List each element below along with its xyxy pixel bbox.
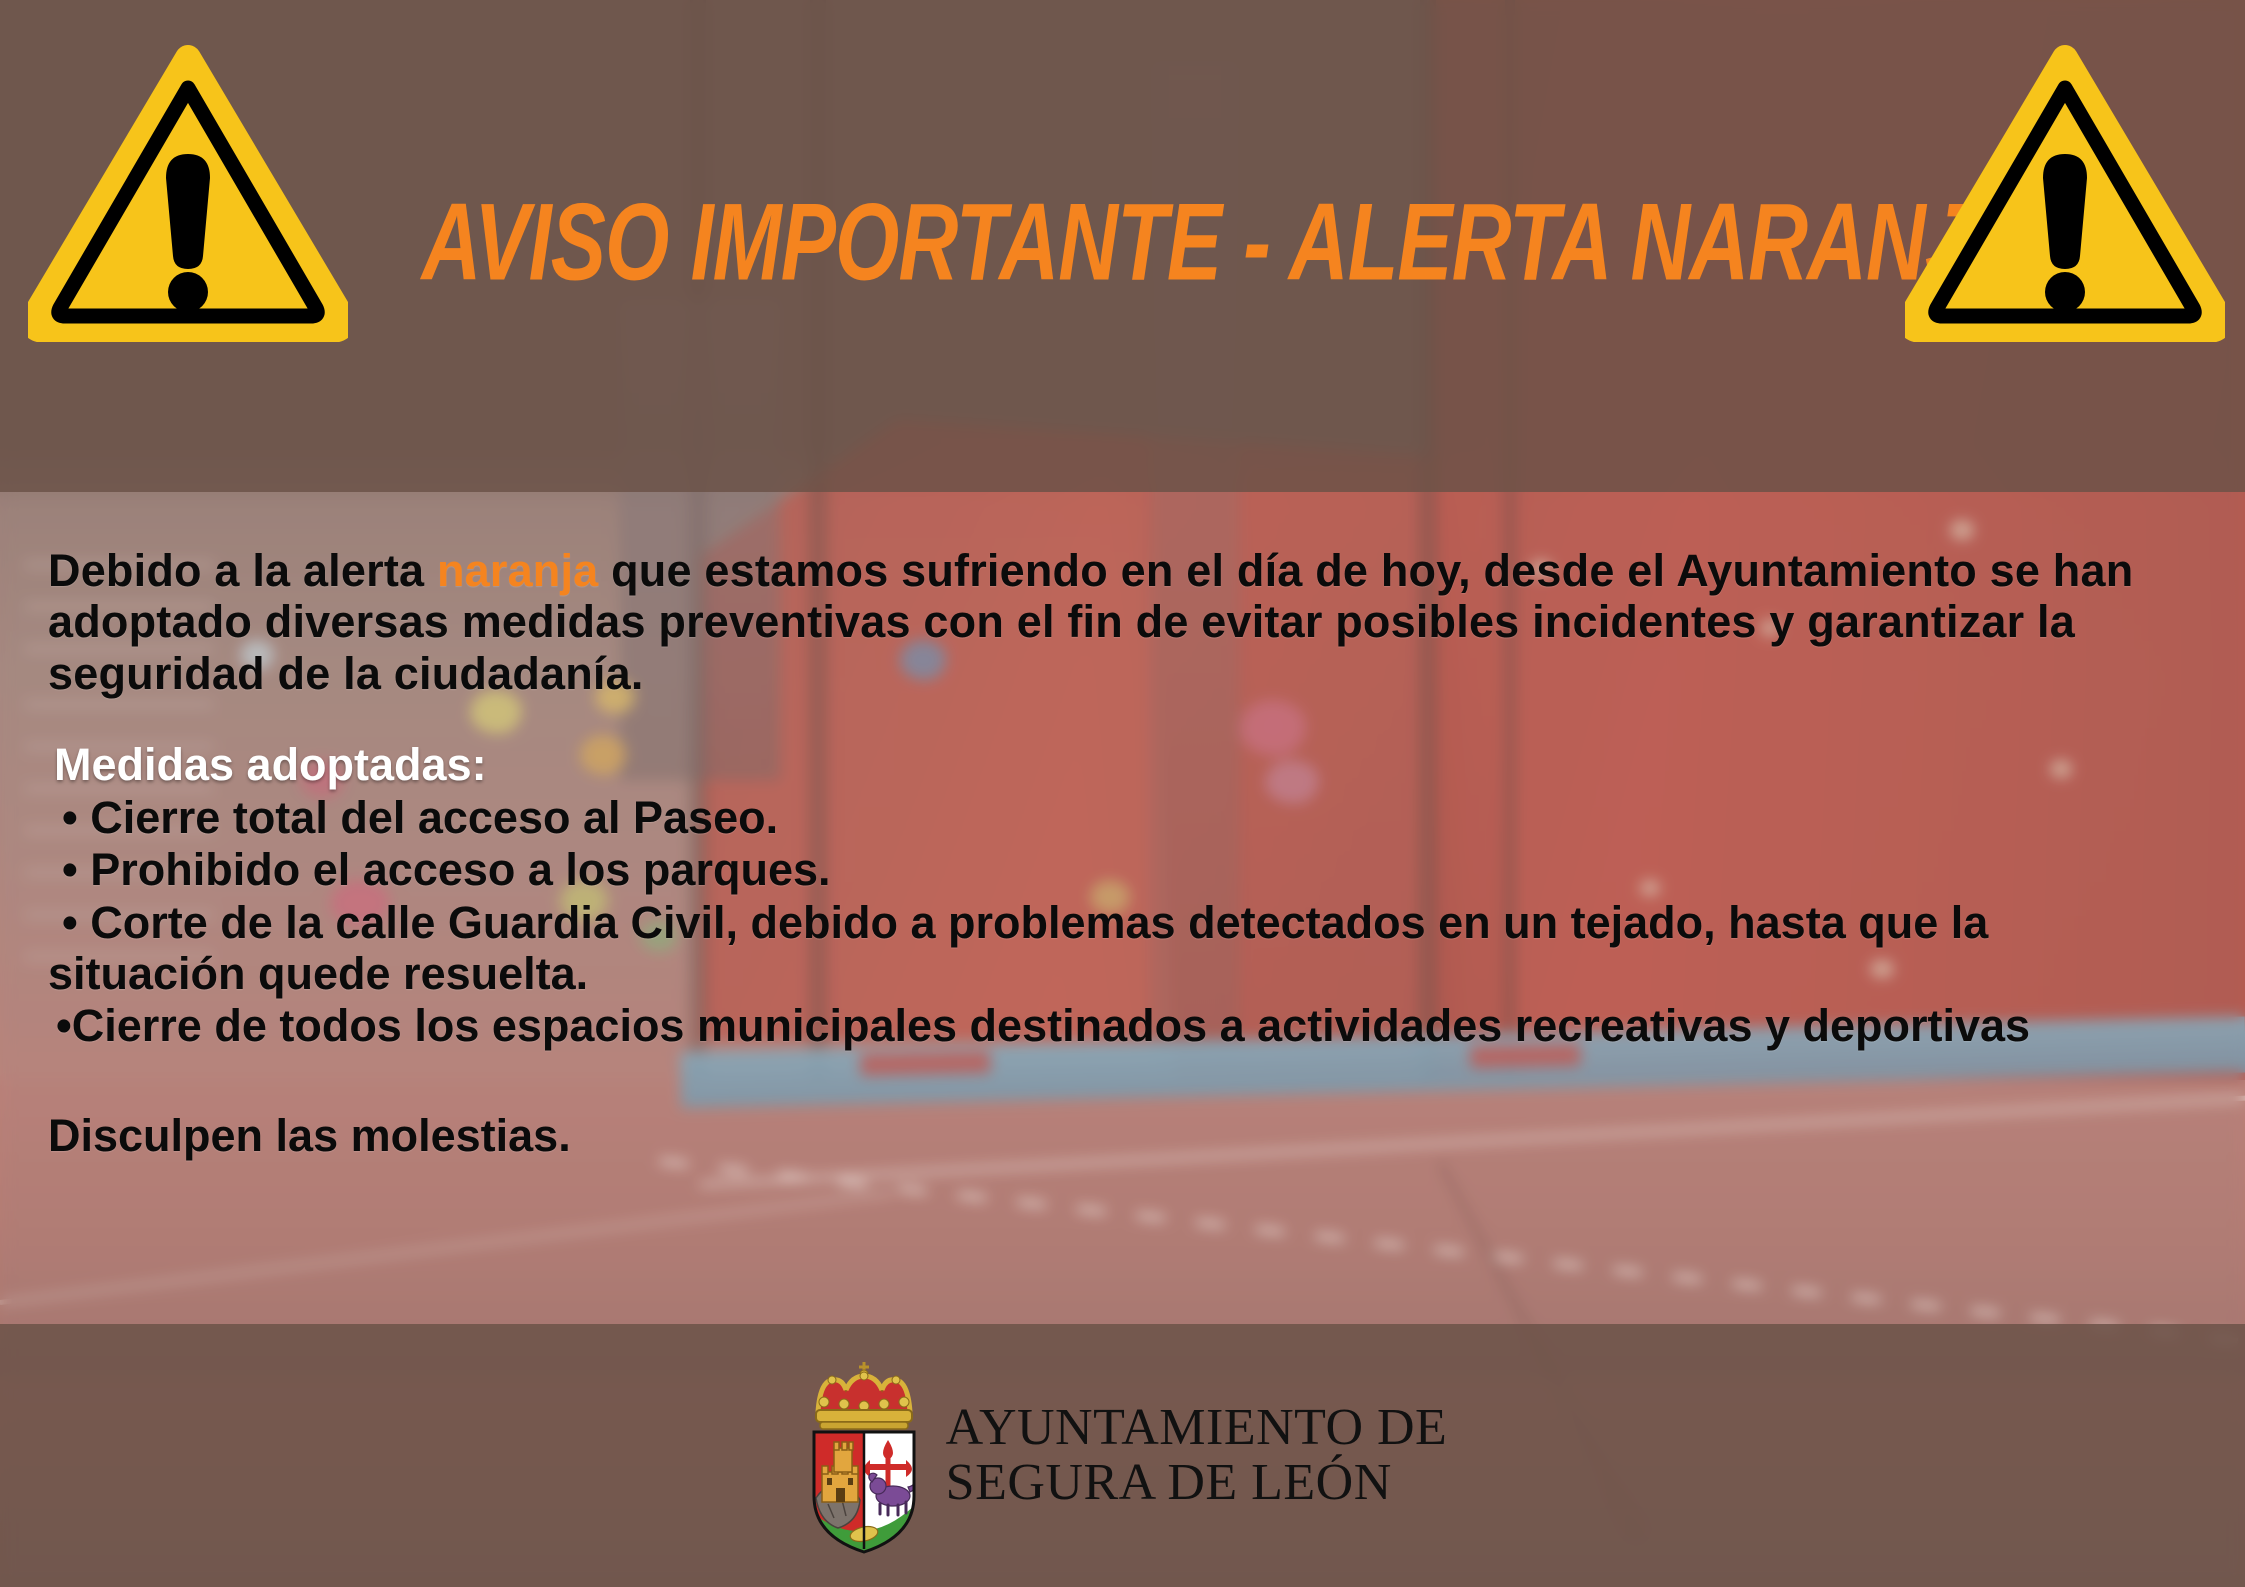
- warning-triangle-icon: [1905, 42, 2225, 342]
- alert-level-highlight: naranja: [437, 545, 598, 596]
- list-item: • Prohibido el acceso a los parques.: [48, 844, 2178, 895]
- list-item: • Corte de la calle Guardia Civil, debid…: [48, 897, 2178, 1000]
- logo-text: AYUNTAMIENTO DE SEGURA DE LEÓN: [946, 1401, 1448, 1509]
- closing-apology: Disculpen las molestias.: [48, 1110, 2178, 1161]
- list-item: • Cierre total del acceso al Paseo.: [48, 792, 2178, 843]
- measure-text: • Cierre total del acceso al Paseo.: [48, 792, 778, 843]
- warning-triangle-icon: [28, 42, 348, 342]
- header: AVISO IMPORTANTE - ALERTA NARANJA: [0, 0, 2245, 492]
- lead-text-part1: Debido a la alerta: [48, 545, 437, 596]
- measure-text: •Cierre de todos los espacios municipale…: [48, 1000, 2030, 1051]
- measure-text: • Prohibido el acceso a los parques.: [48, 844, 831, 895]
- measure-text: • Corte de la calle Guardia Civil, debid…: [48, 897, 1988, 999]
- logo-line-1: AYUNTAMIENTO DE: [946, 1401, 1448, 1455]
- municipality-logo: AYUNTAMIENTO DE SEGURA DE LEÓN: [798, 1356, 1448, 1556]
- measures-heading: Medidas adoptadas:: [54, 739, 2178, 790]
- measures-list: • Cierre total del acceso al Paseo. • Pr…: [48, 792, 2178, 1051]
- list-item: •Cierre de todos los espacios municipale…: [48, 1000, 2178, 1051]
- announcement-body: Debido a la alerta naranja que estamos s…: [48, 545, 2178, 1161]
- coat-of-arms-icon: [798, 1356, 930, 1556]
- page-title: AVISO IMPORTANTE - ALERTA NARANJA: [422, 188, 1839, 298]
- poster: AVISO IMPORTANTE - ALERTA NARANJA Debido…: [0, 0, 2245, 1587]
- lead-paragraph: Debido a la alerta naranja que estamos s…: [48, 545, 2178, 699]
- footer: AYUNTAMIENTO DE SEGURA DE LEÓN: [0, 1324, 2245, 1587]
- logo-line-2: SEGURA DE LEÓN: [946, 1456, 1448, 1510]
